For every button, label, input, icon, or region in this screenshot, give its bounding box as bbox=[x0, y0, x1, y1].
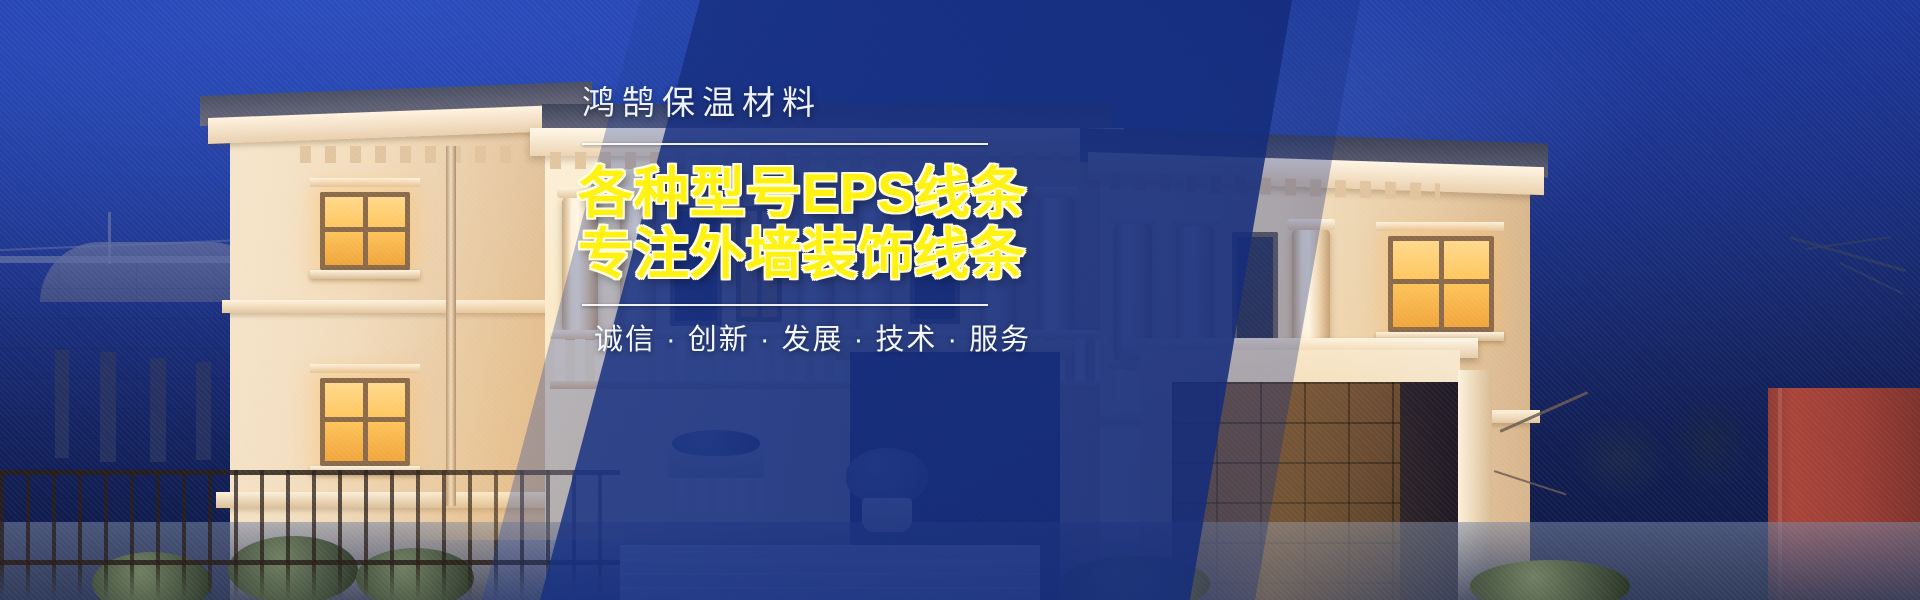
window-hood bbox=[1376, 222, 1504, 231]
plant-pot bbox=[862, 498, 912, 532]
column bbox=[1038, 196, 1074, 332]
divider-top bbox=[582, 143, 988, 145]
tagline: 诚信 · 创新 · 发展 · 技术 · 服务 bbox=[560, 326, 1040, 355]
antenna-mast-icon bbox=[108, 212, 111, 264]
window-transom bbox=[325, 227, 405, 232]
downpipe bbox=[446, 146, 456, 506]
window-hood bbox=[310, 178, 420, 187]
lit-window bbox=[1388, 236, 1494, 332]
fence-rail-bottom bbox=[0, 560, 620, 565]
headline: 各种型号EPS线条 专注外墙装饰线条 bbox=[560, 163, 1040, 284]
planter-shrub bbox=[672, 430, 760, 456]
lit-window bbox=[320, 378, 410, 466]
window-transom bbox=[325, 417, 405, 422]
window-sill bbox=[310, 270, 420, 279]
distant-window bbox=[55, 350, 69, 458]
lit-window bbox=[320, 192, 410, 270]
divider-bottom bbox=[582, 304, 988, 306]
fence-rail-top bbox=[0, 470, 620, 475]
brand-name: 鸿鹄保温材料 bbox=[560, 86, 1040, 119]
headline-line-2: 专注外墙装饰线条 bbox=[578, 224, 1040, 285]
promo-banner: 鸿鹄保温材料 各种型号EPS线条 专注外墙装饰线条 诚信 · 创新 · 发展 ·… bbox=[0, 0, 1920, 600]
planter-balustrade bbox=[672, 478, 764, 512]
window-transom bbox=[1393, 279, 1489, 284]
distant-window bbox=[100, 352, 116, 462]
banner-copy: 鸿鹄保温材料 各种型号EPS线条 专注外墙装饰线条 诚信 · 创新 · 发展 ·… bbox=[560, 86, 1040, 355]
window-hood bbox=[310, 364, 420, 373]
headline-line-1: 各种型号EPS线条 bbox=[578, 163, 1040, 224]
entrance-steps bbox=[620, 545, 1040, 600]
left-wing-string-course bbox=[222, 300, 560, 313]
iron-fence bbox=[0, 470, 620, 600]
potted-shrub bbox=[846, 448, 928, 504]
window-mullion bbox=[1439, 241, 1444, 327]
